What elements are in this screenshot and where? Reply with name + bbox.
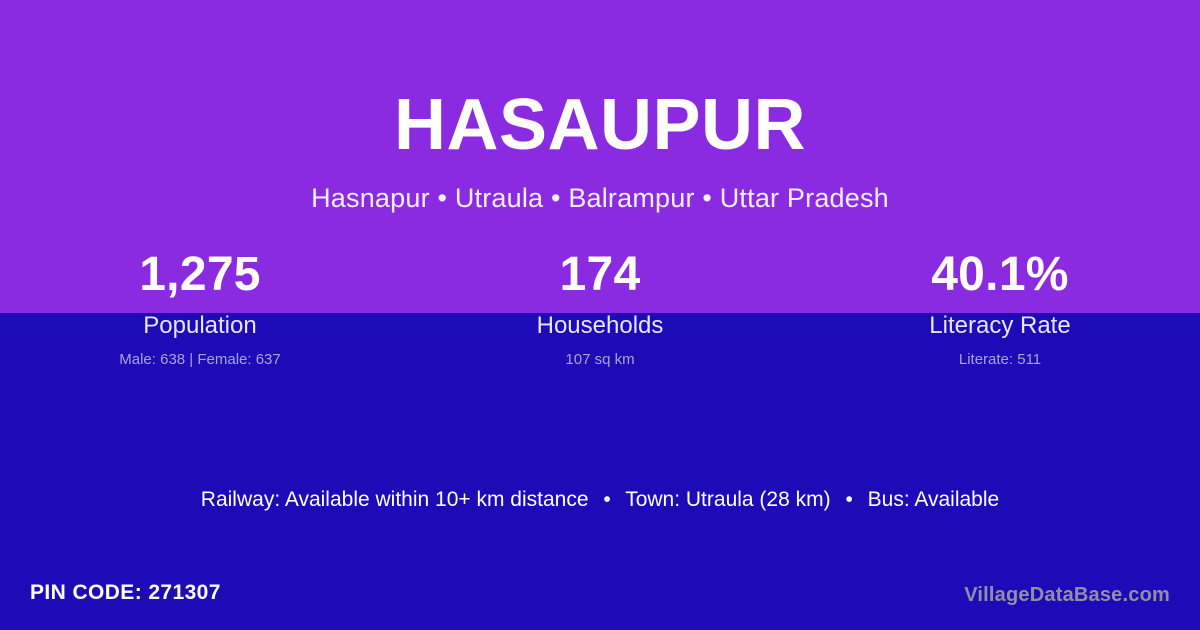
stat-sublabel: Male: 638 | Female: 637 [0,350,400,370]
stat-sublabel: Literate: 511 [800,350,1200,370]
bullet-separator-icon: • [836,488,861,511]
town-info: Town: Utraula (28 km) [625,488,830,511]
pin-code: PIN CODE: 271307 [30,580,221,606]
bus-info: Bus: Available [868,488,1000,511]
site-branding: VillageDataBase.com [964,582,1170,608]
bullet-separator-icon: • [594,488,619,511]
connectivity-line: Railway: Available within 10+ km distanc… [0,486,1200,514]
stat-label: Population [0,312,400,340]
railway-info: Railway: Available within 10+ km distanc… [201,488,589,511]
page-title: HASAUPUR [0,82,1200,168]
stat-population: 1,275 Population Male: 638 | Female: 637 [0,246,400,370]
stat-literacy-rate: 40.1% Literacy Rate Literate: 511 [800,246,1200,370]
village-info-card: HASAUPUR Hasnapur • Utraula • Balrampur … [0,0,1200,630]
stat-value: 174 [400,246,800,304]
stat-value: 40.1% [800,246,1200,304]
stat-sublabel: 107 sq km [400,350,800,370]
stat-label: Households [400,312,800,340]
stat-value: 1,275 [0,246,400,304]
stats-row: 1,275 Population Male: 638 | Female: 637… [0,246,1200,370]
location-breadcrumb: Hasnapur • Utraula • Balrampur • Uttar P… [0,180,1200,216]
stat-label: Literacy Rate [800,312,1200,340]
stat-households: 174 Households 107 sq km [400,246,800,370]
